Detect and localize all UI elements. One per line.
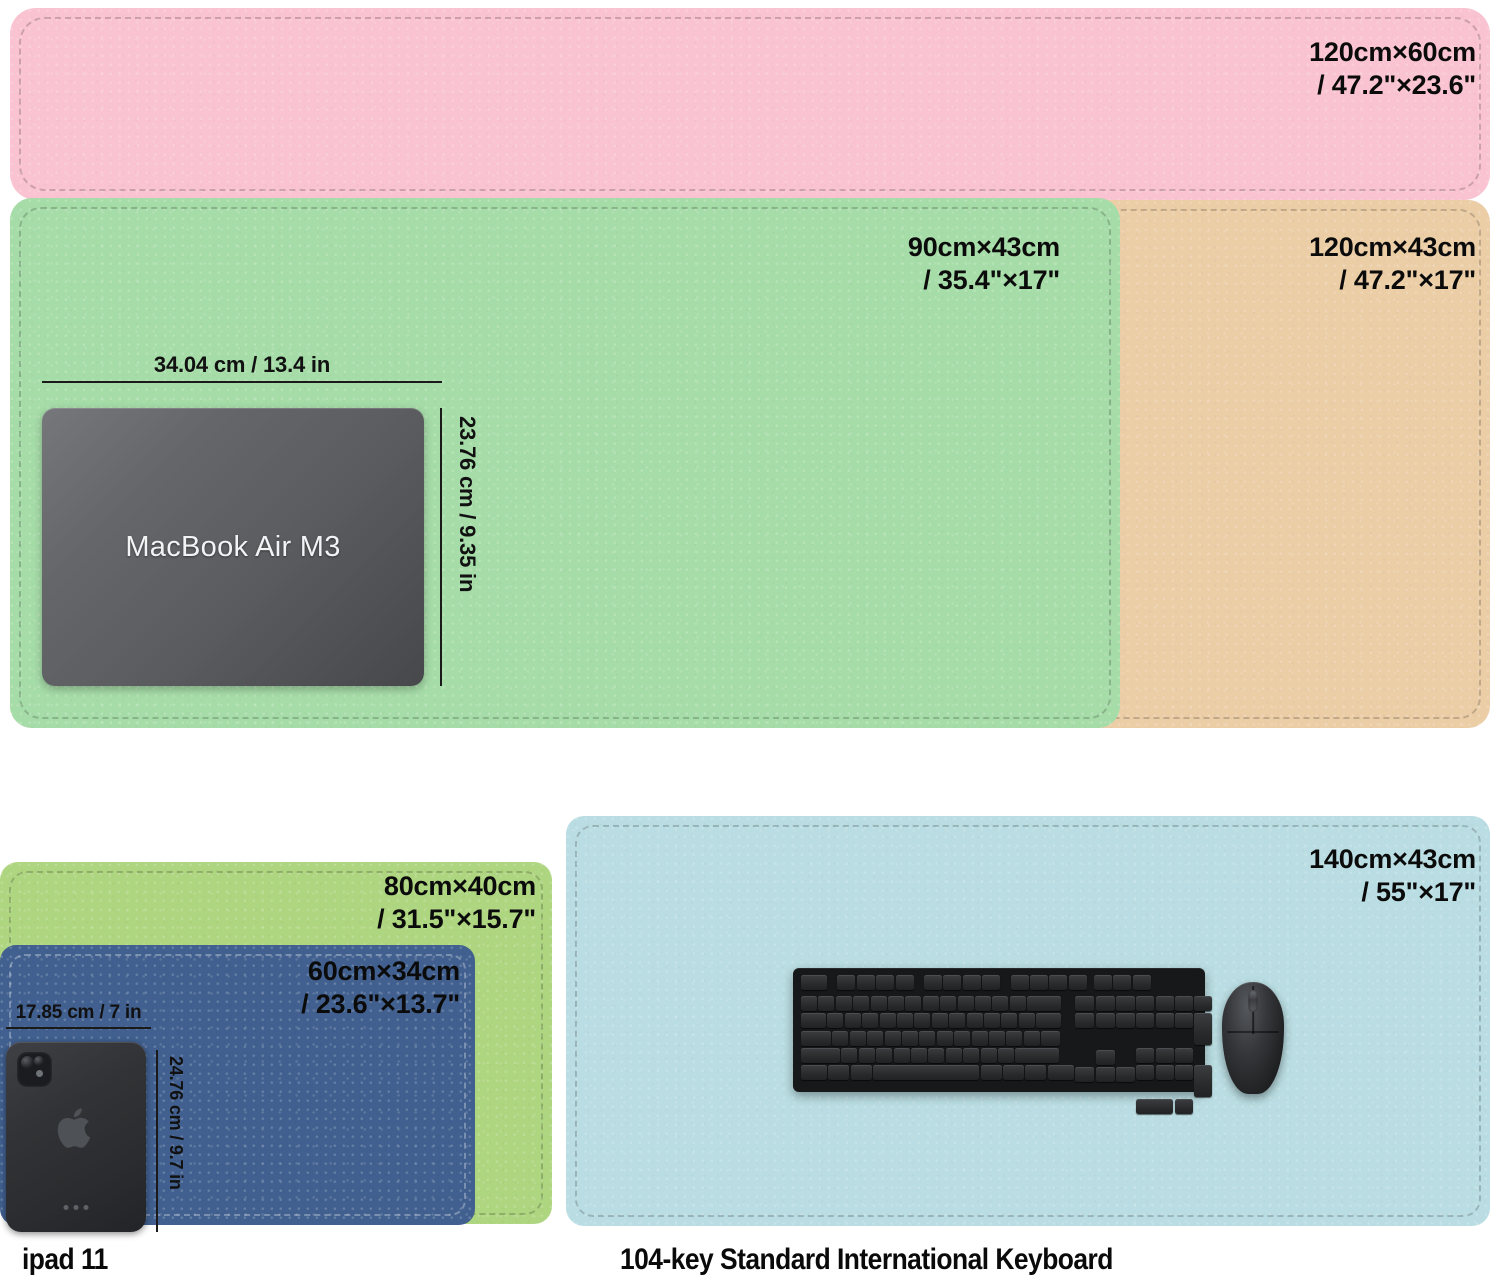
key-arrow-down	[1096, 1067, 1115, 1082]
key-backslash	[1024, 1031, 1040, 1046]
mouse-seam	[1227, 1031, 1279, 1033]
keyboard-arrow-up-row	[1075, 1050, 1136, 1067]
key-arrow-right	[1116, 1067, 1135, 1082]
key-bracket-left	[1001, 1013, 1017, 1028]
macbook-air-m3: MacBook Air M3	[42, 408, 424, 686]
ipad-height-rule	[156, 1050, 158, 1232]
key-numpad-1	[1136, 1065, 1154, 1080]
key-shift-right	[1015, 1048, 1059, 1063]
key-arrow-up	[1096, 1050, 1115, 1065]
key-equals	[1010, 996, 1026, 1011]
key-numpad-subtract	[1194, 996, 1212, 1011]
key-h	[919, 1031, 935, 1046]
key-c	[876, 1048, 892, 1063]
key-q	[827, 1013, 843, 1028]
key-u	[932, 1013, 948, 1028]
pink-mat-size-label: 120cm×60cm / 47.2"×23.6"	[1160, 36, 1476, 102]
key-5	[888, 996, 904, 1011]
key-y	[914, 1013, 930, 1028]
key-alt-right	[981, 1065, 1002, 1080]
key-numpad-8	[1156, 1013, 1174, 1028]
key-0	[975, 996, 991, 1011]
key-6	[905, 996, 921, 1011]
keyboard-qwerty-row	[801, 1013, 1075, 1030]
keyboard-arrow-row	[1075, 1067, 1136, 1084]
camera-lens-icon	[21, 1056, 34, 1069]
key-8	[940, 996, 956, 1011]
key-alt-left	[851, 1065, 872, 1080]
key-backquote	[801, 996, 817, 1011]
key-pause	[1133, 975, 1151, 990]
standard-keyboard	[793, 968, 1205, 1092]
key-numpad-divide	[1156, 996, 1174, 1011]
ipad-width-rule	[6, 1027, 151, 1029]
key-end	[1096, 1013, 1115, 1028]
keyboard-main-area	[801, 996, 1197, 1116]
keypad-row-1	[1136, 996, 1214, 1013]
size-comparison-infographic: 120cm×60cm / 47.2"×23.6" 120cm×43cm / 47…	[0, 0, 1500, 1285]
key-ctrl-left	[801, 1065, 827, 1080]
keyboard-navigation-cluster	[1075, 996, 1136, 1084]
key-f7	[963, 975, 981, 990]
green-mat-size-label: 90cm×43cm / 35.4"×17"	[760, 231, 1060, 297]
key-enter-lower	[1041, 1031, 1060, 1046]
keyboard-modifier-row	[801, 1065, 1075, 1082]
key-f8	[982, 975, 1000, 990]
macbook-height-dimension: 23.76 cm / 9.35 in	[440, 408, 500, 686]
key-enter	[1036, 1013, 1061, 1028]
key-j	[937, 1031, 953, 1046]
keyboard-nav-row-1	[1075, 996, 1136, 1013]
key-f2	[857, 975, 875, 990]
camera-flash-icon	[36, 1070, 43, 1077]
key-f10	[1030, 975, 1048, 990]
key-home	[1096, 996, 1115, 1011]
key-f11	[1049, 975, 1067, 990]
key-e	[862, 1013, 878, 1028]
macbook-width-rule	[42, 381, 442, 383]
key-semicolon	[989, 1031, 1005, 1046]
key-o	[967, 1013, 983, 1028]
key-7	[923, 996, 939, 1011]
ipad-width-dimension: 17.85 cm / 7 in	[6, 1002, 151, 1029]
key-tab	[801, 1013, 826, 1028]
key-f9	[1011, 975, 1029, 990]
key-ctrl-right	[1048, 1065, 1074, 1080]
key-numpad-decimal	[1175, 1099, 1193, 1114]
key-numpad-4	[1136, 1048, 1154, 1063]
keyboard-nav-row-2	[1075, 1013, 1136, 1030]
ipad-width-dimension-text: 17.85 cm / 7 in	[6, 1002, 151, 1024]
key-numpad-3	[1175, 1065, 1193, 1080]
key-period	[981, 1048, 997, 1063]
tan-mat-size-label: 120cm×43cm / 47.2"×17"	[1160, 231, 1476, 297]
key-menu	[1025, 1065, 1046, 1080]
keyboard-caption: 104-key Standard International Keyboard	[620, 1243, 1113, 1277]
key-g	[902, 1031, 918, 1046]
key-n	[928, 1048, 944, 1063]
key-numpad-add	[1194, 1013, 1212, 1045]
key-p	[984, 1013, 1000, 1028]
ipad-camera-module	[17, 1052, 52, 1087]
key-l	[972, 1031, 988, 1046]
smart-connector-icon	[64, 1205, 89, 1210]
key-minus	[992, 996, 1008, 1011]
key-space	[873, 1065, 979, 1080]
key-page-down	[1116, 1013, 1135, 1028]
teal-mat-size-label: 140cm×43cm / 55"×17"	[1170, 843, 1476, 909]
keyboard-numeric-keypad	[1136, 996, 1214, 1116]
key-numpad-2	[1156, 1065, 1174, 1080]
keypad-row-4	[1136, 1065, 1214, 1099]
key-delete	[1075, 1013, 1094, 1028]
macbook-width-dimension: 34.04 cm / 13.4 in	[42, 352, 442, 383]
key-4	[871, 996, 887, 1011]
key-t	[897, 1013, 913, 1028]
key-numpad-9	[1175, 1013, 1193, 1028]
apple-logo-icon	[53, 1102, 99, 1154]
keyboard-nav-spacer	[1075, 1031, 1136, 1050]
mouse-scroll-wheel-icon	[1249, 990, 1258, 1012]
key-3	[853, 996, 869, 1011]
key-f3	[876, 975, 894, 990]
key-print-screen	[1094, 975, 1112, 990]
key-num-lock	[1136, 996, 1154, 1011]
camera-lens-secondary-icon	[34, 1056, 44, 1066]
key-backspace	[1027, 996, 1061, 1011]
keyboard-function-row	[801, 975, 1197, 992]
key-r	[880, 1013, 896, 1028]
keyboard-bottom-letter-row	[801, 1048, 1075, 1065]
key-z	[841, 1048, 857, 1063]
key-shift-left	[801, 1048, 840, 1063]
key-a	[832, 1031, 848, 1046]
key-caps-lock	[801, 1031, 831, 1046]
key-f5	[924, 975, 942, 990]
key-arrow-left	[1075, 1067, 1094, 1082]
key-numpad-6	[1175, 1048, 1193, 1063]
keypad-row-5	[1136, 1099, 1214, 1116]
key-numpad-5	[1156, 1048, 1174, 1063]
key-scroll-lock	[1113, 975, 1131, 990]
key-f6	[943, 975, 961, 990]
key-9	[958, 996, 974, 1011]
key-win-right	[1003, 1065, 1024, 1080]
blue-mat-size-label: 60cm×34cm / 23.6"×13.7"	[160, 955, 460, 1021]
ipad-caption: ipad 11	[22, 1243, 108, 1277]
key-w	[845, 1013, 861, 1028]
key-numpad-enter	[1194, 1065, 1212, 1097]
key-numpad-7	[1136, 1013, 1154, 1028]
key-f4	[896, 975, 914, 990]
key-m	[946, 1048, 962, 1063]
key-2	[836, 996, 852, 1011]
key-x	[859, 1048, 875, 1063]
computer-mouse	[1222, 982, 1284, 1094]
keyboard-number-row	[801, 996, 1075, 1013]
keyboard-alpha-block	[801, 996, 1075, 1082]
light-green-mat-size-label: 80cm×40cm / 31.5"×15.7"	[236, 870, 536, 936]
macbook-height-rule	[440, 408, 442, 686]
key-f	[885, 1031, 901, 1046]
key-esc	[801, 975, 827, 990]
macbook-height-dimension-text: 23.76 cm / 9.35 in	[454, 416, 480, 592]
keyboard-home-row	[801, 1031, 1075, 1048]
keypad-row-2	[1136, 1013, 1214, 1047]
key-1	[818, 996, 834, 1011]
key-win-left	[828, 1065, 849, 1080]
ipad-11	[6, 1042, 146, 1232]
keypad-row-3	[1136, 1048, 1214, 1065]
key-numpad-0	[1136, 1099, 1173, 1114]
key-numpad-multiply	[1175, 996, 1193, 1011]
key-v	[894, 1048, 910, 1063]
ipad-height-dimension-text: 24.76 cm / 9.7 in	[165, 1056, 186, 1190]
key-f1	[837, 975, 855, 990]
key-bracket-right	[1019, 1013, 1035, 1028]
macbook-label: MacBook Air M3	[125, 531, 340, 564]
key-s	[850, 1031, 866, 1046]
key-insert	[1075, 996, 1094, 1011]
key-f12	[1069, 975, 1087, 990]
key-quote	[1006, 1031, 1022, 1046]
key-page-up	[1116, 996, 1135, 1011]
key-d	[867, 1031, 883, 1046]
key-i	[949, 1013, 965, 1028]
key-b	[911, 1048, 927, 1063]
key-slash	[998, 1048, 1014, 1063]
macbook-width-dimension-text: 34.04 cm / 13.4 in	[42, 352, 442, 378]
ipad-height-dimension: 24.76 cm / 9.7 in	[156, 1050, 202, 1232]
key-k	[954, 1031, 970, 1046]
key-comma	[963, 1048, 979, 1063]
